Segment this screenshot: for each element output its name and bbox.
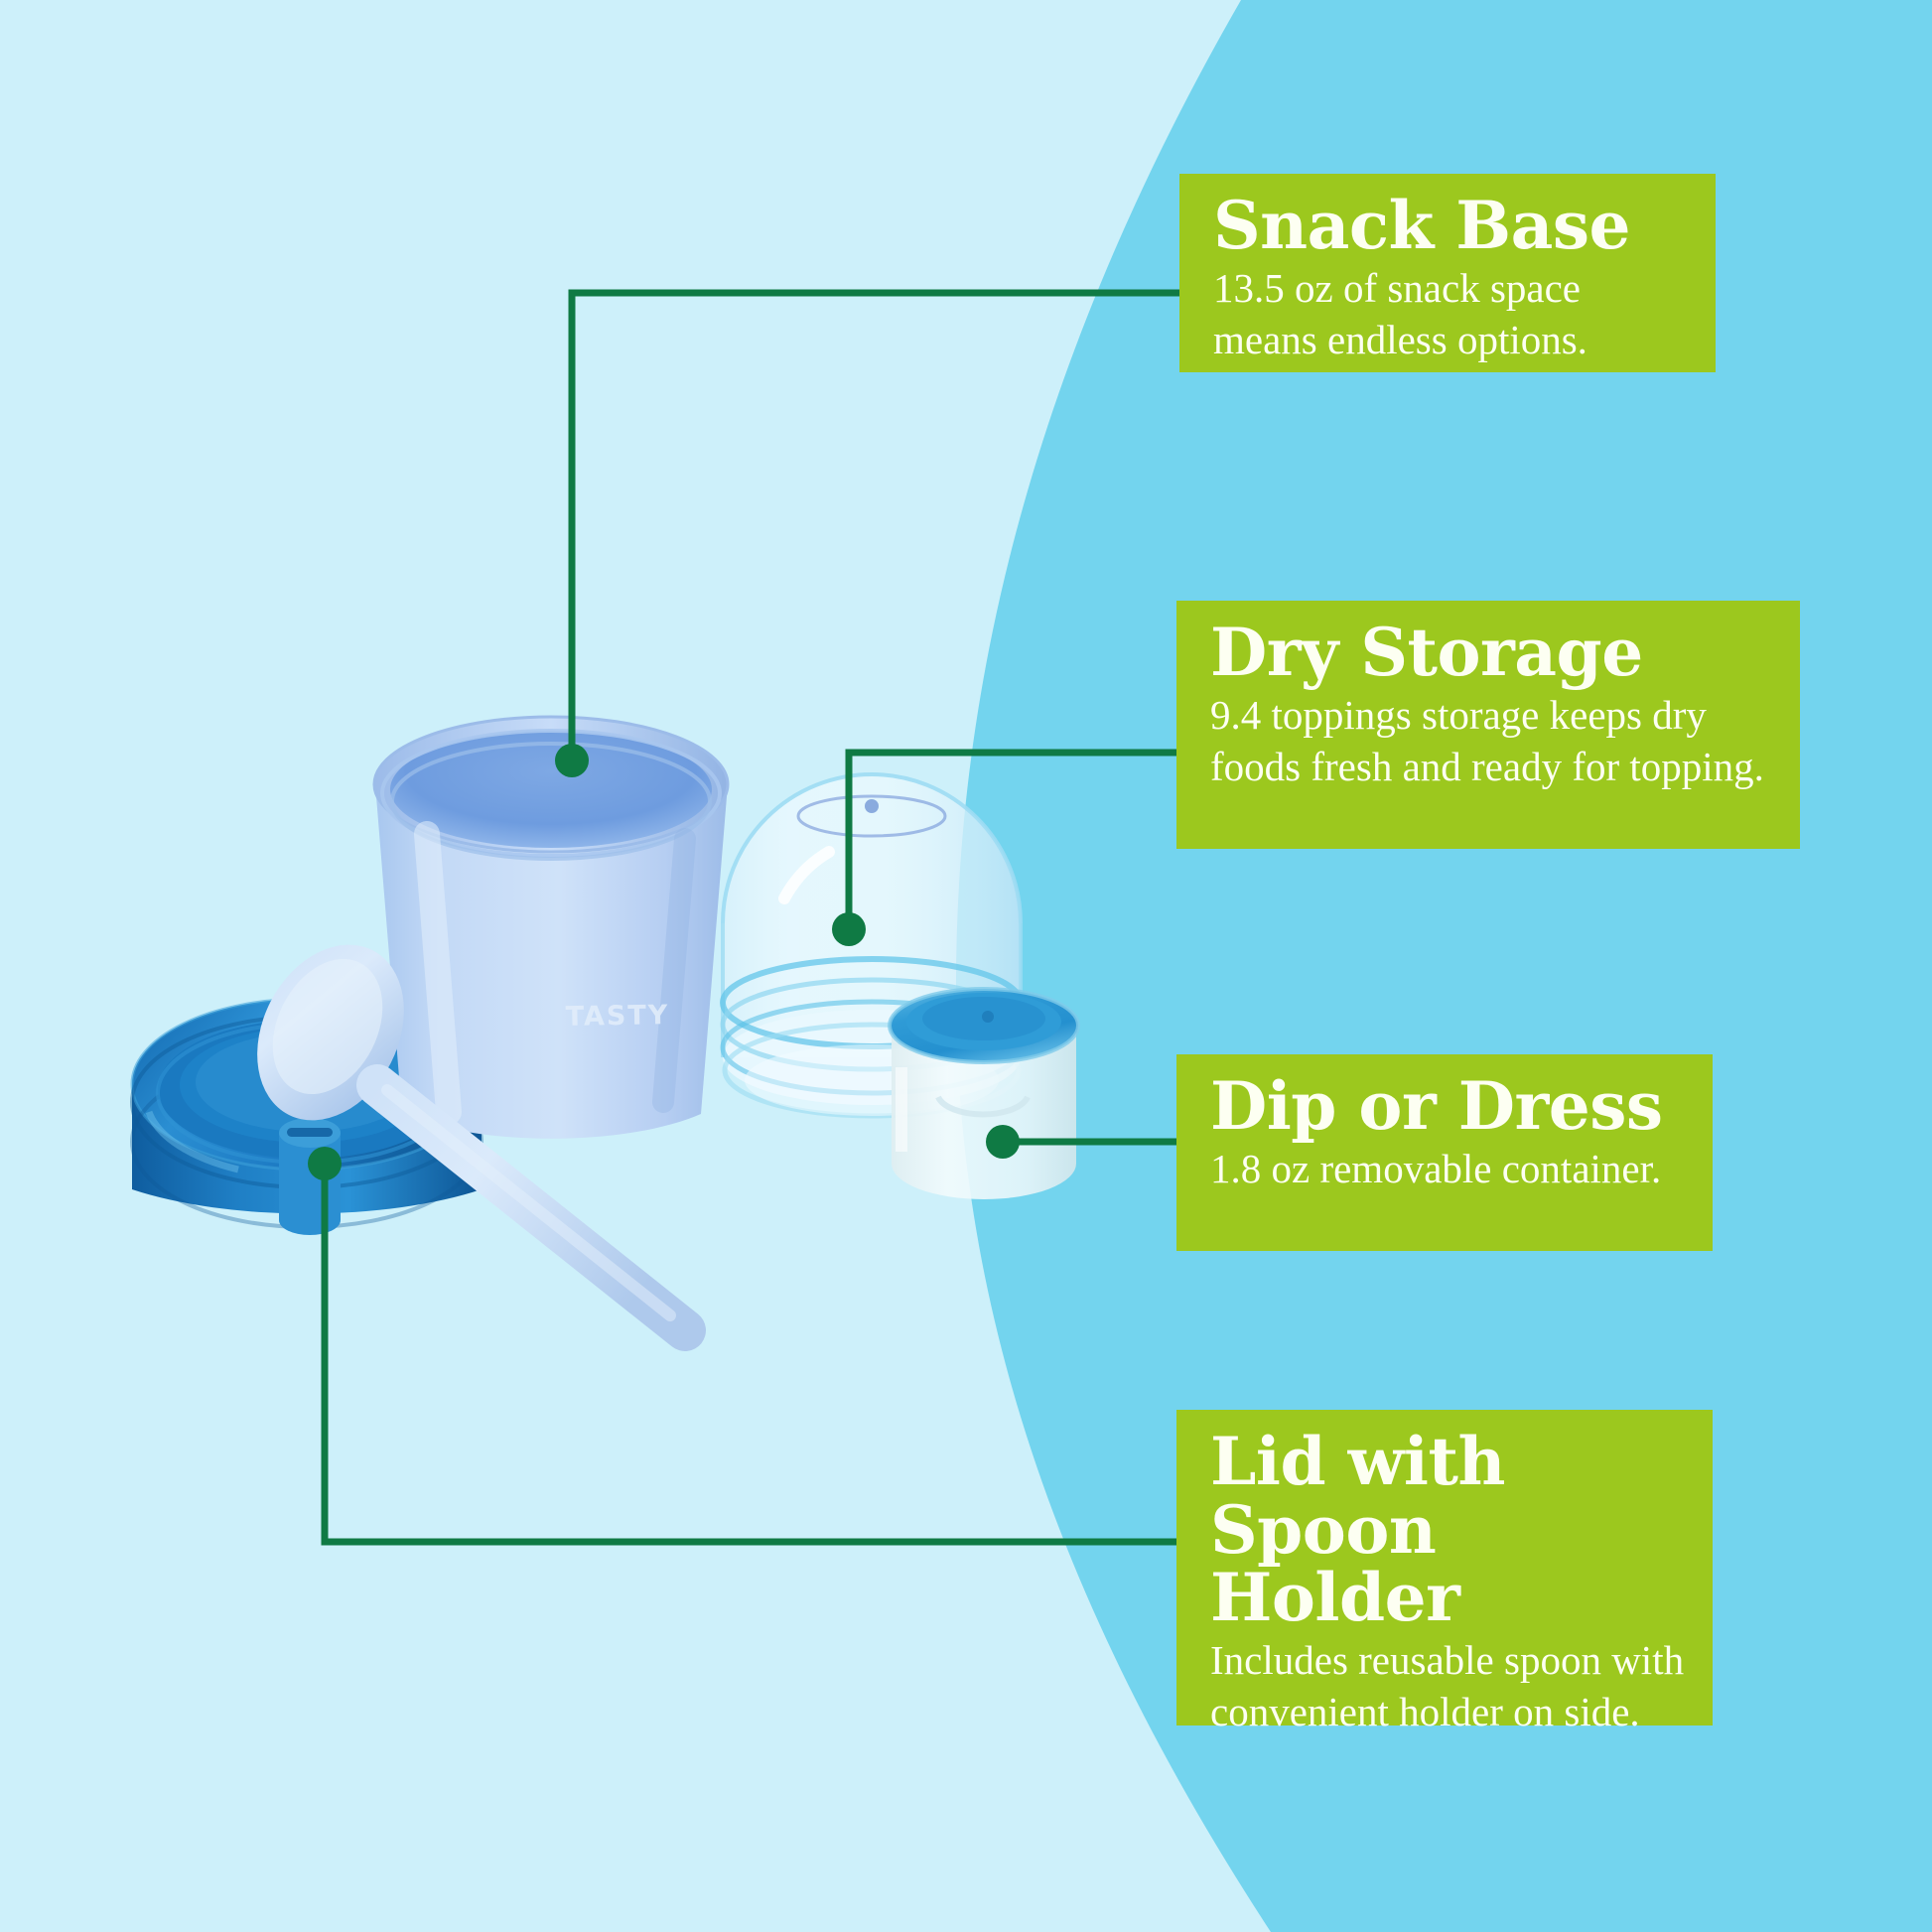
callout-title-snack-base: Snack Base bbox=[1213, 192, 1688, 260]
callout-lid-with-spoon-holder: Lid with Spoon Holder Includes reusable … bbox=[1176, 1410, 1713, 1725]
infographic-canvas: TASTY Snack Base 13.5 oz of snack space … bbox=[0, 0, 1932, 1932]
callout-dip-or-dress: Dip or Dress 1.8 oz removable container. bbox=[1176, 1054, 1713, 1251]
callout-body-lid-with-spoon-holder: Includes reusable spoon with convenient … bbox=[1210, 1634, 1685, 1738]
callout-snack-base: Snack Base 13.5 oz of snack space means … bbox=[1179, 174, 1716, 372]
callout-dry-storage: Dry Storage 9.4 toppings storage keeps d… bbox=[1176, 601, 1800, 849]
callout-body-dry-storage: 9.4 toppings storage keeps dry foods fre… bbox=[1210, 689, 1772, 793]
callout-title-dry-storage: Dry Storage bbox=[1210, 619, 1772, 687]
callout-body-snack-base: 13.5 oz of snack space means endless opt… bbox=[1213, 262, 1688, 366]
callout-title-dip-or-dress: Dip or Dress bbox=[1210, 1072, 1685, 1141]
tasty-brand-mark: TASTY bbox=[563, 1000, 673, 1033]
callout-body-dip-or-dress: 1.8 oz removable container. bbox=[1210, 1143, 1685, 1194]
callout-title-lid-with-spoon-holder: Lid with Spoon Holder bbox=[1210, 1428, 1685, 1632]
